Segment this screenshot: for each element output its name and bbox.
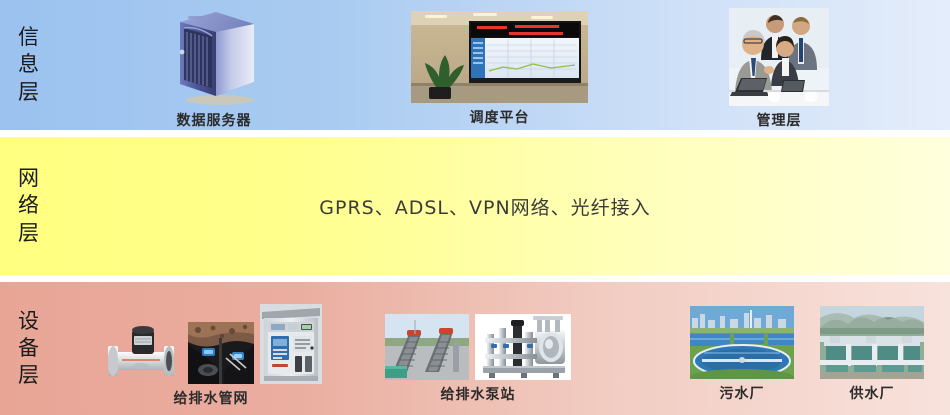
node-sewage-plant-images [690, 306, 794, 379]
node-water-plant: 供水厂 [820, 306, 924, 403]
network-technologies-text: GPRS、ADSL、VPN网络、光纤接入 [0, 137, 950, 275]
node-pipe-network-images [100, 304, 322, 384]
node-pump-station-images [385, 314, 571, 380]
node-caption: 污水厂 [720, 383, 765, 403]
screen-conveyor-photo-icon [385, 314, 469, 380]
booster-pump-photo-icon [475, 314, 571, 380]
water-plant-photo-icon [820, 306, 924, 379]
management-meeting-photo-icon [729, 8, 829, 106]
node-caption: 管理层 [757, 110, 802, 130]
node-caption: 供水厂 [850, 383, 895, 403]
node-dispatch-platform: 调度平台 [411, 11, 588, 127]
sewage-plant-photo-icon [690, 306, 794, 379]
node-water-plant-images [820, 306, 924, 379]
manhole-sensor-photo-icon [188, 322, 254, 384]
node-data-server: 数据服务器 [168, 8, 260, 130]
server-tower-icon [168, 8, 260, 106]
layer-label-device: 设 备 层 [18, 282, 39, 415]
node-caption: 调度平台 [470, 107, 530, 127]
node-caption: 给排水泵站 [441, 384, 516, 404]
layer-information: 信 息 层 [0, 0, 950, 130]
node-pipe-network: 给排水管网 [100, 304, 322, 408]
node-dispatch-platform-images [411, 11, 588, 103]
control-room-photo-icon [411, 11, 588, 103]
flow-meter-photo-icon [100, 322, 182, 384]
node-sewage-plant: 污水厂 [690, 306, 794, 403]
node-caption: 给排水管网 [174, 388, 249, 408]
architecture-diagram: 信 息 层 [0, 0, 950, 415]
layer-network: 网 络 层 GPRS、ADSL、VPN网络、光纤接入 [0, 137, 950, 275]
control-cabinet-photo-icon [260, 304, 322, 384]
node-management: 管理层 [729, 8, 829, 130]
node-caption: 数据服务器 [177, 110, 252, 130]
node-pump-station: 给排水泵站 [385, 314, 571, 404]
layer-label-information: 信 息 层 [18, 0, 39, 130]
layer-device: 设 备 层 [0, 282, 950, 415]
node-management-images [729, 8, 829, 106]
node-data-server-images [168, 8, 260, 106]
